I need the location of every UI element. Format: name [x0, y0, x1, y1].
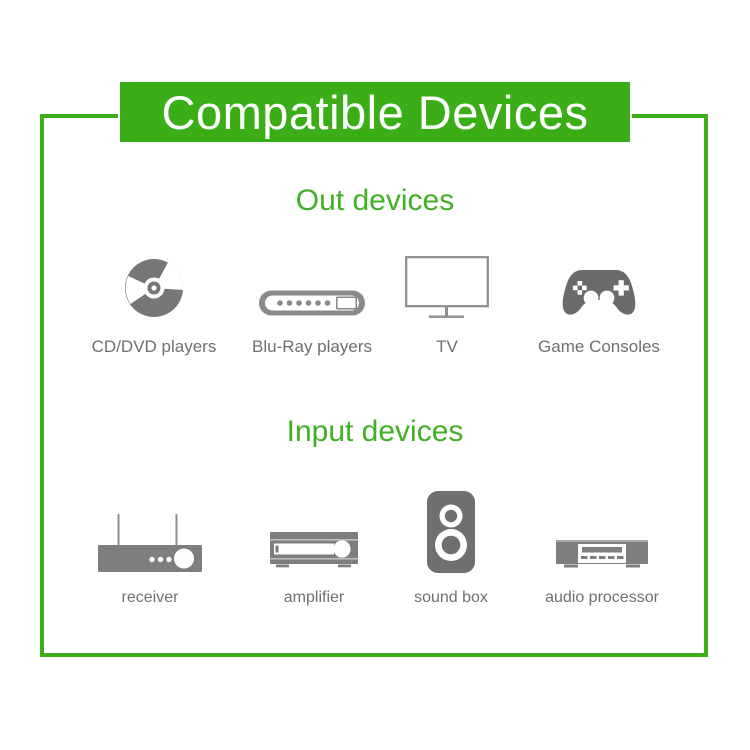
cd-dvd-disc-icon [122, 248, 186, 320]
device-label: Game Consoles [538, 338, 660, 355]
amplifier-icon [268, 488, 360, 574]
device-label: sound box [414, 590, 488, 606]
device-item-cd-dvd-players: CD/DVD players [70, 248, 238, 355]
audio-processor-icon [554, 488, 650, 574]
device-item-audio-processor: audio processor [512, 488, 692, 606]
device-item-amplifier: amplifier [238, 488, 390, 606]
input-devices-row: receiver amplifier [62, 488, 692, 606]
out-devices-row: CD/DVD players Blu-Ray players [70, 248, 690, 355]
device-label: Blu-Ray players [252, 338, 372, 355]
device-item-sound-box: sound box [390, 488, 512, 606]
device-item-game-consoles: Game Consoles [508, 248, 690, 355]
compatible-devices-graphic: Compatible Devices Out devices [0, 0, 750, 750]
blu-ray-player-icon [258, 248, 366, 320]
title-banner: Compatible Devices [120, 82, 630, 142]
device-label: amplifier [284, 590, 344, 606]
tv-monitor-icon [405, 248, 489, 320]
device-label: TV [436, 338, 458, 355]
device-item-receiver: receiver [62, 488, 238, 606]
section-heading-out-devices: Out devices [0, 186, 750, 216]
device-label: audio processor [545, 590, 659, 606]
device-item-tv: TV [386, 248, 508, 355]
page-title: Compatible Devices [162, 89, 589, 136]
gamepad-icon [556, 248, 642, 320]
device-label: receiver [122, 590, 179, 606]
speaker-box-icon [423, 488, 479, 574]
device-label: CD/DVD players [92, 338, 217, 355]
section-heading-input-devices: Input devices [0, 417, 750, 447]
av-receiver-icon [95, 488, 205, 574]
device-item-blu-ray-players: Blu-Ray players [238, 248, 386, 355]
